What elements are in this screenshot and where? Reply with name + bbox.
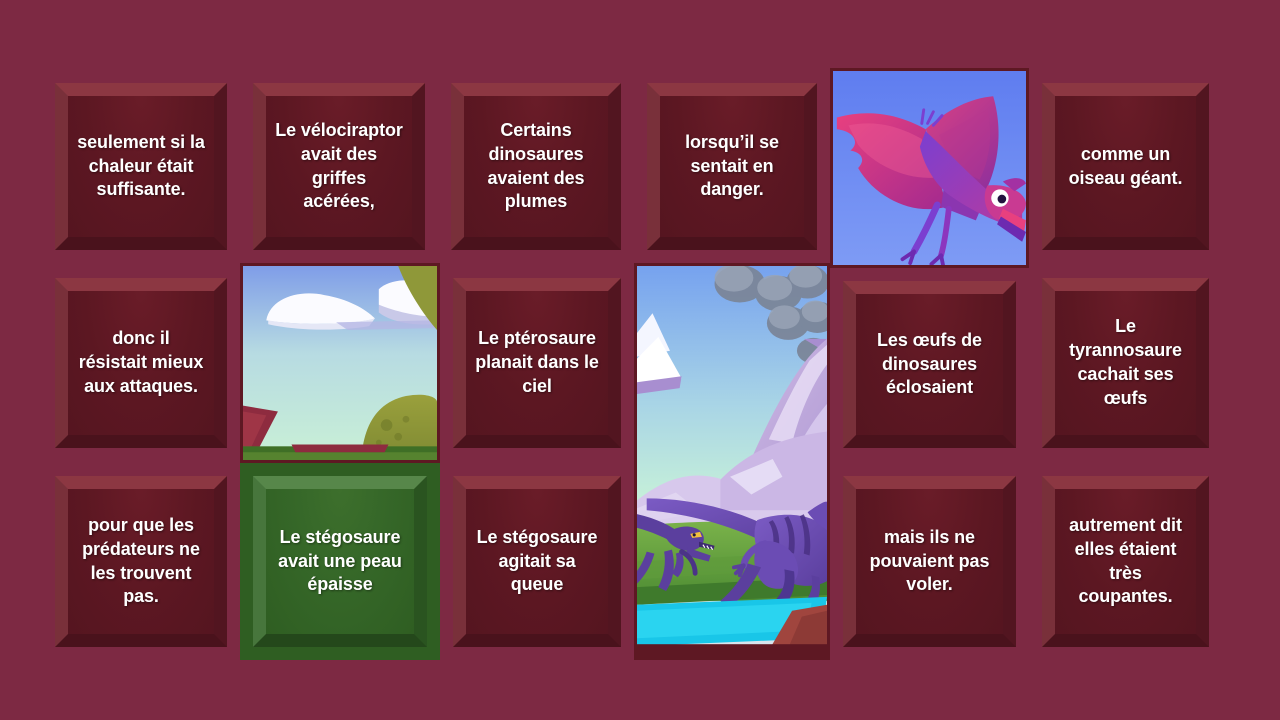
tile-r2c1[interactable]: donc il résistait mieux aux attaques. xyxy=(42,265,240,461)
tile-label: Le ptérosaure planait dans le ciel xyxy=(466,327,608,399)
tile-face: mais ils ne pouvaient pas voler. xyxy=(856,489,1003,634)
tile-label: donc il résistait mieux aux attaques. xyxy=(68,327,214,399)
tile-label: autrement dit elles étaient très coupant… xyxy=(1055,514,1196,610)
tile-label: Les œufs de dinosaures éclosaient xyxy=(856,329,1003,401)
tile-face: Le stégosaure avait une peau épaisse xyxy=(266,489,414,634)
tile-r2c3[interactable]: Le ptérosaure planait dans le ciel xyxy=(440,265,634,461)
tile-label: Le stégosaure agitait sa queue xyxy=(466,526,608,598)
tile-label: Certains dinosaures avaient des plumes xyxy=(464,119,608,215)
tile-label: pour que les prédateurs ne les trouvent … xyxy=(68,514,214,610)
tile-r3c6[interactable]: autrement dit elles étaient très coupant… xyxy=(1029,463,1222,660)
tile-r3c2[interactable]: Le stégosaure avait une peau épaisse xyxy=(240,463,440,660)
tile-label: seulement si la chaleur était suffisante… xyxy=(68,131,214,203)
tile-r3c3[interactable]: Le stégosaure agitait sa queue xyxy=(440,463,634,660)
tile-r2c6[interactable]: Le tyrannosaure cachait ses œufs xyxy=(1029,265,1222,461)
tile-r1c5[interactable] xyxy=(830,68,1029,268)
tile-face: Le ptérosaure planait dans le ciel xyxy=(466,291,608,435)
prehistoric-hills-landscape-illustration xyxy=(243,266,437,460)
tile-r1c2[interactable]: Le vélociraptor avait des griffes acérée… xyxy=(240,70,438,263)
tile-label: comme un oiseau géant. xyxy=(1055,143,1196,191)
tile-r2c4[interactable] xyxy=(634,263,830,660)
tile-face: Le stégosaure agitait sa queue xyxy=(466,489,608,634)
memory-game-board: seulement si la chaleur était suffisante… xyxy=(42,70,1222,660)
tile-face: seulement si la chaleur était suffisante… xyxy=(68,96,214,237)
tile-label: Le vélociraptor avait des griffes acérée… xyxy=(266,119,412,215)
tile-r3c5[interactable]: mais ils ne pouvaient pas voler. xyxy=(830,463,1029,660)
volcano-mountain-with-raptors-illustration xyxy=(637,266,827,657)
tile-face: Les œufs de dinosaures éclosaient xyxy=(856,294,1003,435)
pterosaur-flying-illustration xyxy=(833,71,1026,265)
tile-r1c3[interactable]: Certains dinosaures avaient des plumes xyxy=(438,70,634,263)
tile-face: Le vélociraptor avait des griffes acérée… xyxy=(266,96,412,237)
tile-face: autrement dit elles étaient très coupant… xyxy=(1055,489,1196,634)
tile-face: donc il résistait mieux aux attaques. xyxy=(68,291,214,435)
tile-face: pour que les prédateurs ne les trouvent … xyxy=(68,489,214,634)
tile-face: Certains dinosaures avaient des plumes xyxy=(464,96,608,237)
tile-r3c1[interactable]: pour que les prédateurs ne les trouvent … xyxy=(42,463,240,660)
tile-label: Le tyrannosaure cachait ses œufs xyxy=(1055,315,1196,411)
tile-face: comme un oiseau géant. xyxy=(1055,96,1196,237)
tile-r1c4[interactable]: lorsqu’il se sentait en danger. xyxy=(634,70,830,263)
tile-label: lorsqu’il se sentait en danger. xyxy=(660,131,804,203)
tile-face: Le tyrannosaure cachait ses œufs xyxy=(1055,291,1196,435)
tile-r1c1[interactable]: seulement si la chaleur était suffisante… xyxy=(42,70,240,263)
tile-face: lorsqu’il se sentait en danger. xyxy=(660,96,804,237)
tile-label: mais ils ne pouvaient pas voler. xyxy=(856,526,1003,598)
tile-r1c6[interactable]: comme un oiseau géant. xyxy=(1029,70,1222,263)
tile-label: Le stégosaure avait une peau épaisse xyxy=(266,526,414,598)
tile-r2c2[interactable] xyxy=(240,263,440,463)
tile-r2c5[interactable]: Les œufs de dinosaures éclosaient xyxy=(830,268,1029,461)
